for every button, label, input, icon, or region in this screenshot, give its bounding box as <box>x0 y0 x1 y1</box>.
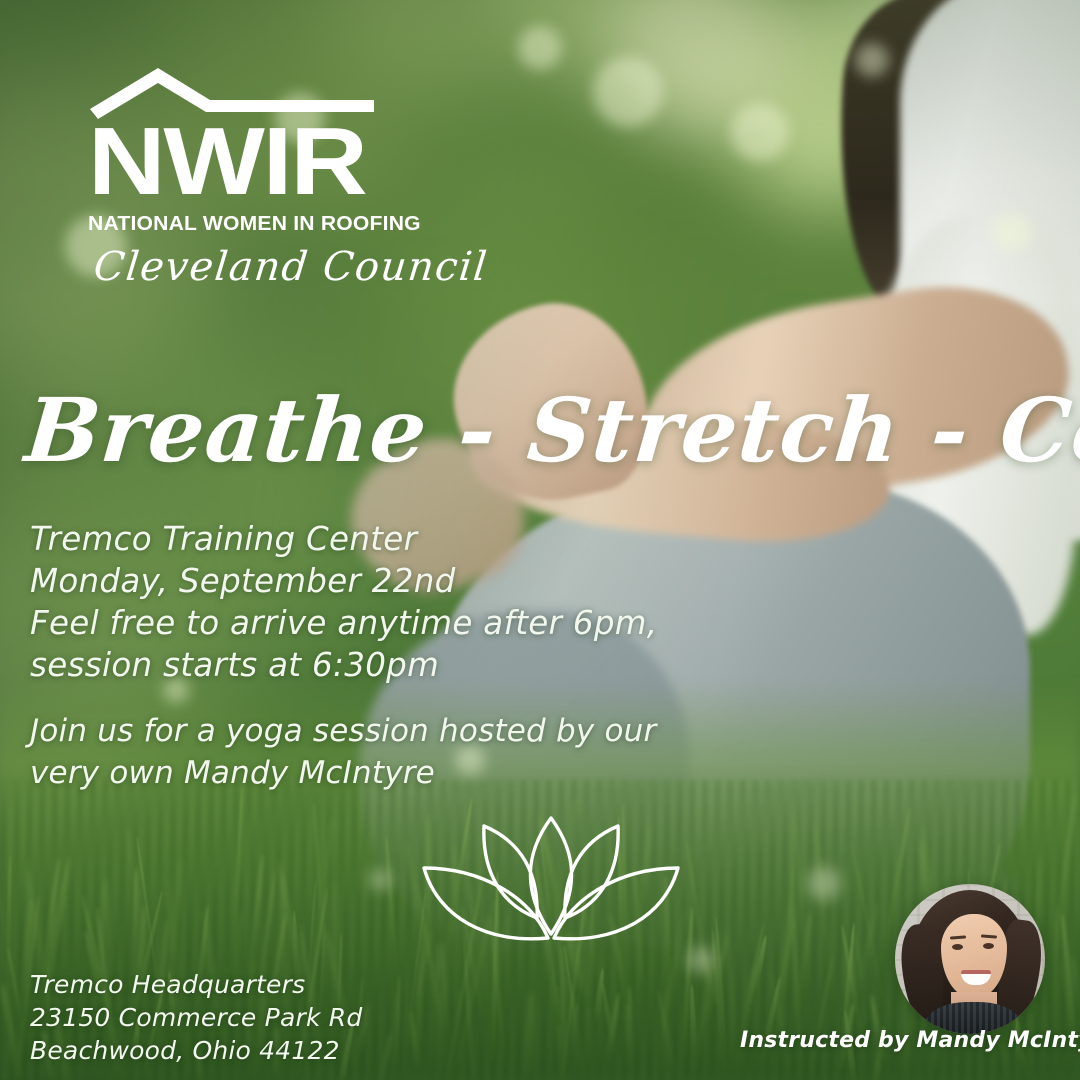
event-flyer: NWIR NATIONAL WOMEN IN ROOFING Cleveland… <box>0 0 1080 1080</box>
invitation-line-1: Join us for a yoga session hosted by our <box>30 710 656 752</box>
address-line-3: Beachwood, Ohio 44122 <box>30 1034 362 1067</box>
nwir-logo: NWIR NATIONAL WOMEN IN ROOFING Cleveland… <box>88 62 388 290</box>
logo-council-name: Cleveland Council <box>92 244 391 290</box>
page-title: Breathe - Stretch - Connect <box>22 386 1060 474</box>
avatar <box>895 884 1045 1034</box>
logo-acronym: NWIR <box>88 122 424 203</box>
instructor-credit: Instructed by Mandy McIntyre <box>740 1028 1080 1053</box>
bokeh-sparkle <box>992 212 1032 252</box>
venue-address: Tremco Headquarters 23150 Commerce Park … <box>30 968 362 1067</box>
address-line-2: 23150 Commerce Park Rd <box>30 1001 362 1034</box>
detail-start-time: session starts at 6:30pm <box>30 644 657 686</box>
detail-venue: Tremco Training Center <box>30 518 657 560</box>
invitation-text: Join us for a yoga session hosted by our… <box>30 710 656 794</box>
avatar-eye-right <box>983 943 994 949</box>
bokeh-sparkle <box>518 26 562 70</box>
avatar-eye-left <box>952 944 963 950</box>
detail-arrival: Feel free to arrive anytime after 6pm, <box>30 602 657 644</box>
bokeh-sparkle <box>731 103 789 161</box>
bokeh-sparkle <box>593 57 663 127</box>
event-details: Tremco Training Center Monday, September… <box>30 518 657 686</box>
logo-full-name: NATIONAL WOMEN IN ROOFING <box>88 212 397 236</box>
address-line-1: Tremco Headquarters <box>30 968 362 1001</box>
detail-date: Monday, September 22nd <box>30 560 657 602</box>
lotus-flower-icon <box>418 812 684 964</box>
bokeh-sparkle <box>855 43 889 77</box>
invitation-line-2: very own Mandy McIntyre <box>30 752 656 794</box>
